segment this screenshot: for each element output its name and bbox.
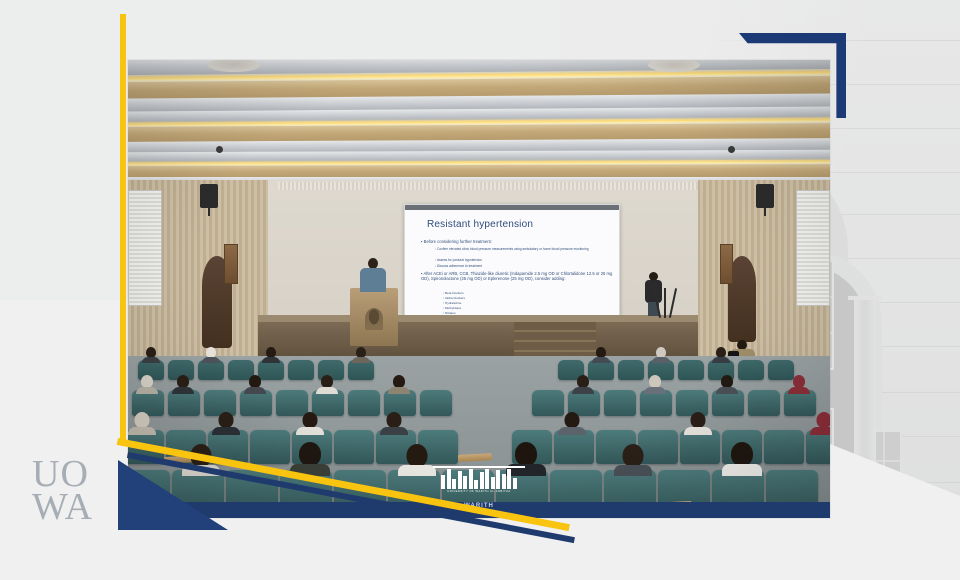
kufic-wordmark-icon	[433, 466, 525, 489]
audience-member	[722, 442, 762, 474]
uowa-monogram-line2: WA	[32, 491, 93, 524]
photo-overlay-logo: UNIVERSITY OF WARITH AL-ANBIYAA	[431, 466, 527, 494]
presenter	[360, 258, 386, 292]
slide-bullet: ▫ Methyldopa	[443, 306, 461, 310]
audience-member	[172, 375, 194, 393]
uowa-monogram: UO WA	[32, 458, 93, 525]
wall-plaque	[720, 244, 733, 284]
ceiling-camera-icon	[728, 146, 735, 153]
slide-bullet: ▫ Assess for postural hypotension	[435, 258, 482, 262]
audience-member	[684, 412, 712, 434]
audience-member	[316, 375, 338, 393]
wall-speaker	[200, 184, 218, 208]
podium	[350, 288, 398, 346]
audience-member	[128, 412, 156, 434]
slide-bullet: ▫ Hydralazine	[443, 301, 461, 305]
audience-member	[380, 412, 408, 434]
audience-member	[614, 444, 652, 474]
audience-member	[788, 375, 810, 393]
slide-bullet: ▫ Confirm elevated clinic blood pressure…	[435, 247, 589, 251]
audience-member	[592, 347, 610, 362]
audience-member	[572, 375, 594, 393]
audience-member	[712, 347, 730, 362]
presenter-body	[360, 268, 386, 292]
slide-bullet: ▫ Alpha blockers	[443, 296, 465, 300]
audience-member	[136, 375, 158, 393]
wall-speaker	[756, 184, 774, 208]
university-emblem-icon	[365, 308, 383, 330]
audience-member	[558, 412, 586, 434]
audience-member	[644, 375, 666, 393]
tripod	[656, 276, 674, 318]
event-photo: Resistant hypertension ▪ Before consider…	[128, 60, 830, 518]
slide-title: Resistant hypertension	[427, 219, 533, 230]
slide-bullet: ▫ Discuss adherence to treatment	[435, 264, 482, 268]
audience-member	[352, 347, 370, 362]
wall-plaque	[224, 244, 238, 284]
yellow-accent-vertical	[120, 14, 126, 444]
logo-subtitle: UNIVERSITY OF WARITH AL-ANBIYAA	[431, 491, 527, 494]
audience-member	[716, 375, 738, 393]
audience-member	[296, 412, 324, 434]
slide-bullet: ▪ Before considering further treatment:	[421, 239, 492, 244]
window-blinds	[128, 190, 162, 306]
slide-bullet: ▫ Beta blockers	[443, 291, 464, 295]
audience-member	[388, 375, 410, 393]
event-banner: Resistant hypertension ▪ Before consider…	[0, 0, 960, 580]
audience-member	[202, 347, 220, 362]
window-blinds	[796, 190, 830, 306]
audience-member	[142, 347, 160, 362]
projection-screen: Resistant hypertension ▪ Before consider…	[404, 204, 620, 322]
audience-member	[810, 412, 830, 434]
ceiling-camera-icon	[216, 146, 223, 153]
audience-member	[652, 347, 670, 362]
auditorium-ceiling	[128, 60, 830, 190]
screen-top-bar	[405, 205, 619, 210]
slide-bullet: ▪ After ACEi or ARB, CCB, Thiazide-like …	[421, 271, 613, 282]
audience-member	[290, 442, 330, 474]
audience-member	[212, 412, 240, 434]
audience-member	[262, 347, 280, 362]
audience-member	[244, 375, 266, 393]
